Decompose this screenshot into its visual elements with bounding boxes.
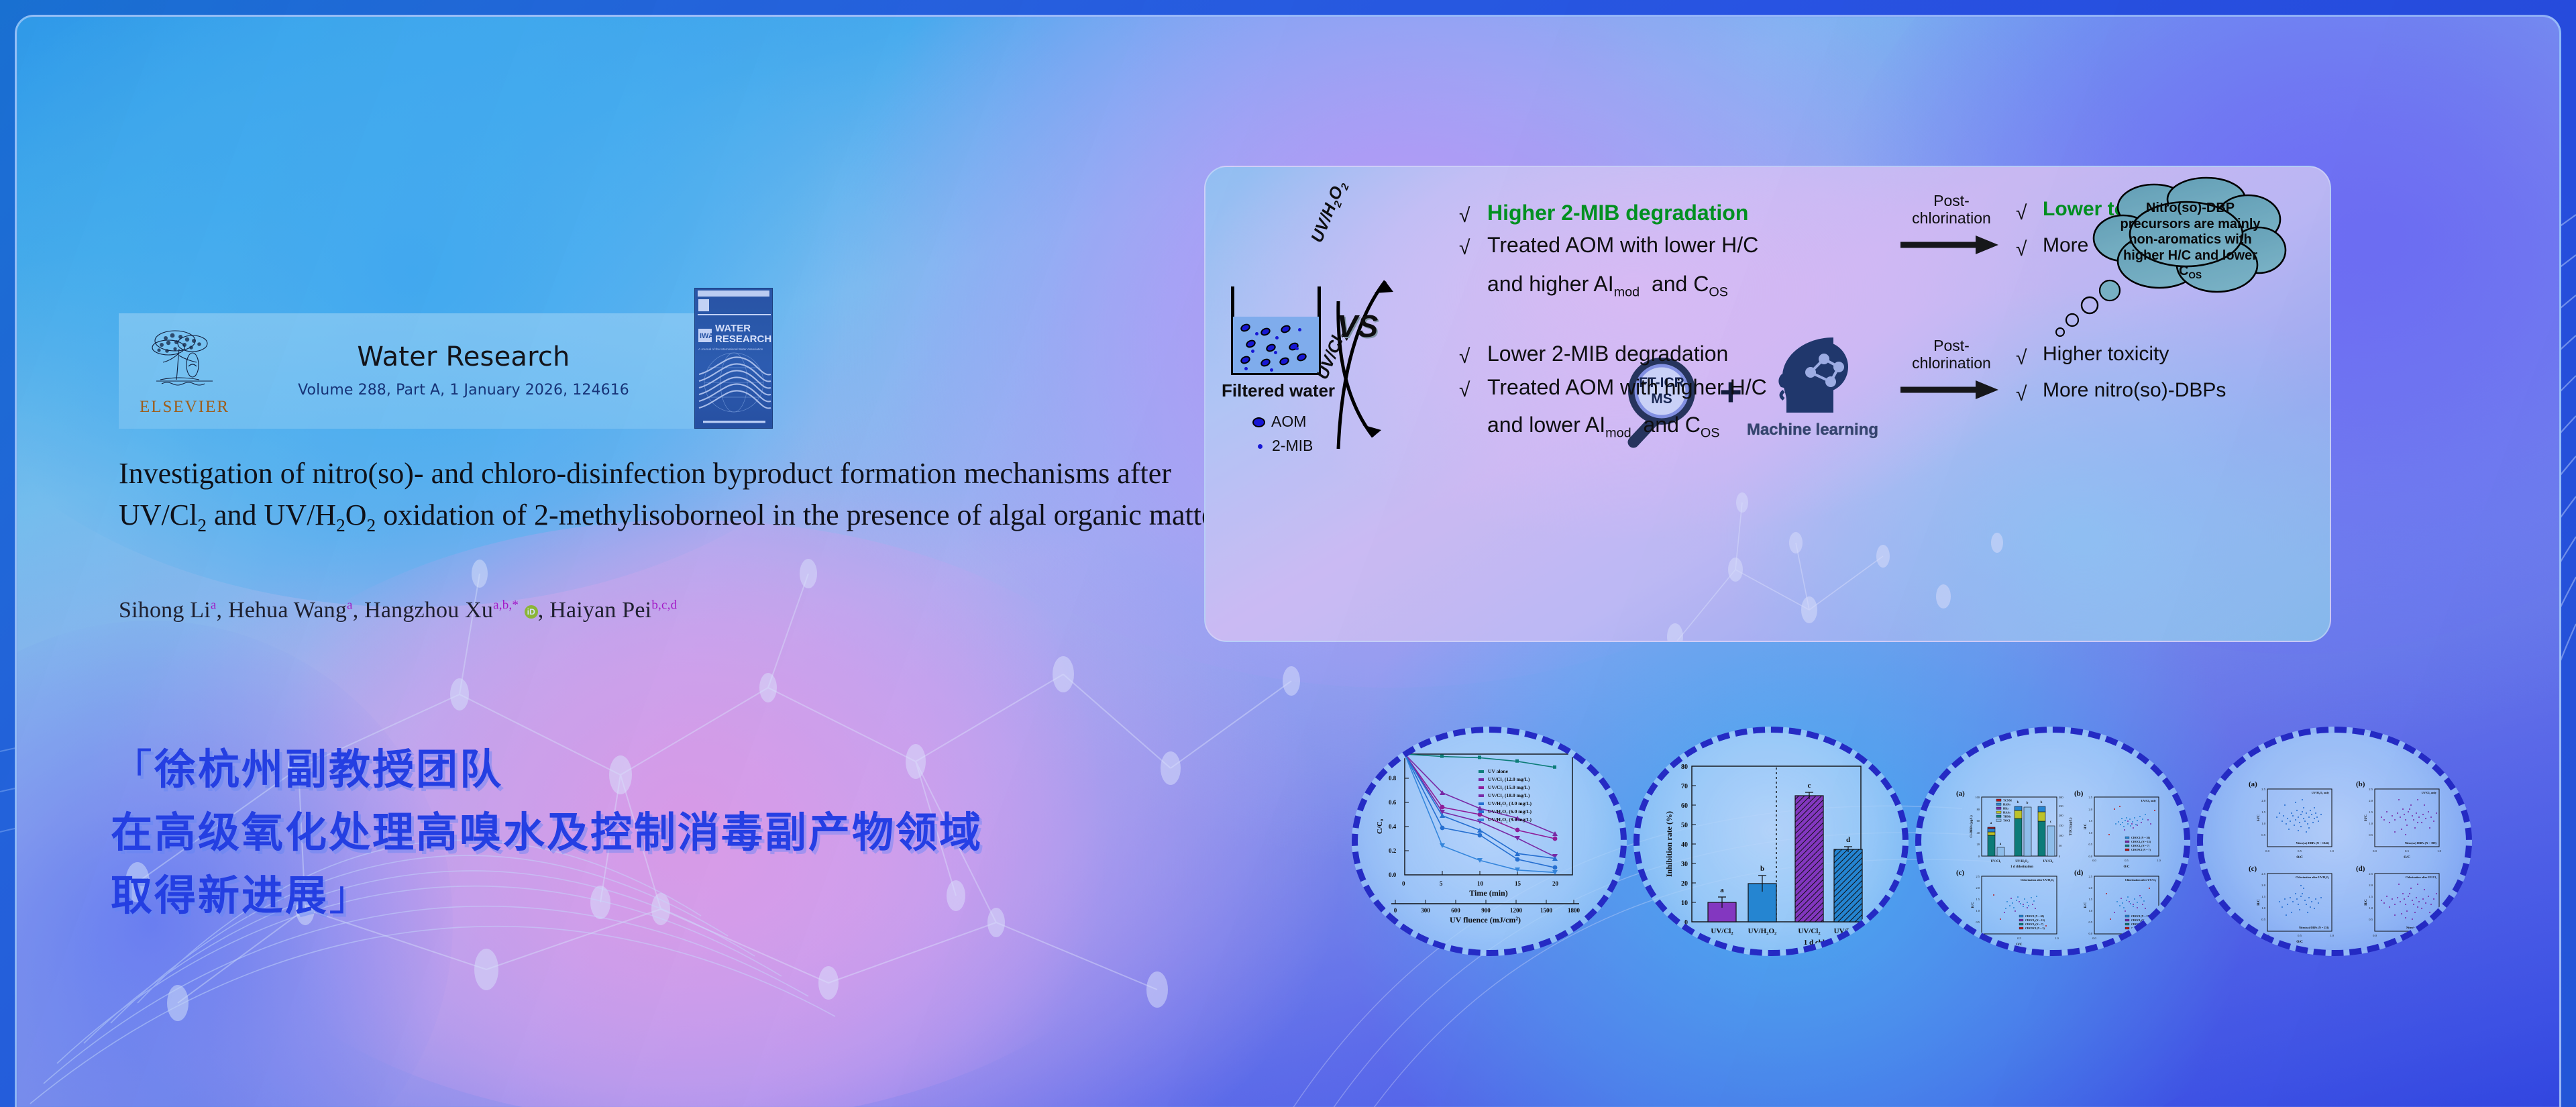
check-top-2: √ <box>1459 237 1470 260</box>
graphical-abstract-panel: Filtered water AOM 2-MIB UV/H2O2 UV/Cl2 … <box>1204 166 2331 642</box>
svg-text:UV alone: UV alone <box>1488 768 1509 774</box>
chinese-headline: 「徐杭州副教授团队 在高级氧化处理高嗅水及控制消毒副产物领域 取得新进展」 <box>111 738 1251 928</box>
svg-text:a: a <box>2000 843 2002 846</box>
bloom-cyan-topleft <box>15 15 916 607</box>
beaker-label: Filtered water <box>1222 380 1335 401</box>
branch-bottom-arrow-label: UV/Cl2 <box>1313 328 1352 383</box>
svg-text:Nitro(so)-DBPs (N = 231): Nitro(so)-DBPs (N = 231) <box>2299 926 2330 929</box>
svg-text:0.2: 0.2 <box>1389 847 1397 854</box>
svg-text:2.5: 2.5 <box>2261 788 2265 791</box>
branch-bottom-outcome-2: More nitro(so)-DBPs <box>2043 379 2226 402</box>
author-3: Hangzhou Xua,b,* iD <box>364 598 538 623</box>
check-top-1: √ <box>1459 205 1470 227</box>
svg-text:1.0: 1.0 <box>2369 822 2373 825</box>
magnifier-icon: FT-ICR MS <box>1613 356 1699 450</box>
svg-text:30: 30 <box>1681 861 1688 868</box>
svg-text:O/C: O/C <box>2296 940 2303 944</box>
svg-text:UV/Cl₂ only: UV/Cl₂ only <box>2422 791 2437 794</box>
svg-text:Cl-DBPs (μg/L): Cl-DBPs (μg/L) <box>1970 815 1974 838</box>
svg-text:0.8: 0.8 <box>1389 775 1397 782</box>
post-chlorination-arrow-top <box>1899 234 2000 257</box>
svg-text:600: 600 <box>1451 907 1460 914</box>
svg-text:0.5: 0.5 <box>2369 918 2373 921</box>
cloud-line-3: non-aromatics with <box>2129 232 2251 247</box>
svg-text:2.5: 2.5 <box>2369 872 2373 876</box>
branch-bottom-bullet-2-cont: and lower AImod and COS <box>1487 413 1720 441</box>
svg-text:40: 40 <box>1681 841 1688 849</box>
svg-text:UV/Cl₂ (12.0 mg/L): UV/Cl₂ (12.0 mg/L) <box>1488 776 1530 782</box>
abstract-panel-mesh <box>1205 167 2331 642</box>
svg-text:2.0: 2.0 <box>2261 884 2265 887</box>
svg-text:b: b <box>2017 801 2019 804</box>
svg-text:1.0: 1.0 <box>2437 849 2441 853</box>
svg-text:1.5: 1.5 <box>2369 895 2373 898</box>
svg-text:0.0: 0.0 <box>2373 934 2377 937</box>
svg-text:UV/Cl₂ (15.0 mg/L): UV/Cl₂ (15.0 mg/L) <box>1488 784 1530 790</box>
svg-text:A Journal of the International: A Journal of the International Water Ass… <box>698 348 763 351</box>
svg-text:a: a <box>1720 886 1724 894</box>
svg-text:250: 250 <box>2059 804 2063 808</box>
svg-text:2.0: 2.0 <box>2261 799 2265 802</box>
bloom-violet-top <box>822 15 1962 688</box>
svg-text:Nitro(so)-DBPs (N = 399): Nitro(so)-DBPs (N = 399) <box>2405 841 2437 845</box>
svg-text:UV/Cl₂: UV/Cl₂ <box>1711 927 1733 935</box>
legend-mib: 2-MIB <box>1258 437 1313 455</box>
magnifier-label: FT-ICR MS <box>1628 375 1695 407</box>
svg-text:UV/Cl₂: UV/Cl₂ <box>2043 860 2053 863</box>
svg-text:900: 900 <box>1481 907 1491 914</box>
svg-text:WATER: WATER <box>715 323 751 334</box>
svg-text:TOCl: TOCl <box>2003 819 2010 823</box>
svg-text:O/C: O/C <box>2404 855 2410 859</box>
check-top-out-2: √ <box>2016 238 2027 261</box>
figure2-chart: 807060 504030 20100 Inhibition rate (%) <box>1640 733 1909 956</box>
bloom-indigo-topright <box>1828 15 2561 654</box>
author-2: Hehua Wanga <box>228 598 353 623</box>
brain-ml-icon <box>1769 335 1852 415</box>
svg-text:1500: 1500 <box>1540 907 1553 914</box>
svg-text:b: b <box>2027 802 2029 805</box>
svg-text:Inhibition rate (%): Inhibition rate (%) <box>1664 811 1674 877</box>
svg-text:200: 200 <box>2059 814 2063 817</box>
svg-text:H/C: H/C <box>2084 823 2088 829</box>
journal-cover-image: IWA WATER RESEARCH A Journal of the Inte… <box>694 288 773 429</box>
legend-aom-label: AOM <box>1271 413 1306 430</box>
svg-text:20: 20 <box>1681 880 1688 888</box>
branch-top-arrow-label: UV/H2O2 <box>1307 178 1352 247</box>
svg-text:1800: 1800 <box>1568 907 1580 914</box>
cloud-line-1: Nitro(so)-DBP <box>2146 201 2235 215</box>
svg-text:2.5: 2.5 <box>2089 875 2093 878</box>
legend-mib-label: 2-MIB <box>1272 437 1313 454</box>
branch-top-outcome-1: Lower toxicity <box>2043 198 2178 221</box>
journal-header-bar: ELSEVIER Water Research Volume 288, Part… <box>119 313 696 429</box>
headline-line-2: 在高级氧化处理高嗅水及控制消毒副产物领域 <box>111 808 983 857</box>
svg-text:1.0: 1.0 <box>2089 909 2093 912</box>
svg-text:UV/H₂O₂ (6.0 mg/L): UV/H₂O₂ (6.0 mg/L) <box>1488 808 1532 814</box>
svg-text:CHOCl (N = 36): CHOCl (N = 36) <box>2131 836 2151 839</box>
plus-icon: + <box>1719 370 1742 415</box>
svg-text:1.0: 1.0 <box>2330 934 2334 937</box>
svg-text:2.5: 2.5 <box>1976 875 1980 878</box>
post-label-bot-1: Post- <box>1933 337 1970 354</box>
svg-text:100: 100 <box>2059 834 2063 837</box>
svg-text:300: 300 <box>2059 796 2063 799</box>
headline-close-bracket: 」 <box>329 871 372 920</box>
poster-background: ELSEVIER Water Research Volume 288, Part… <box>0 0 2576 1107</box>
svg-text:2.0: 2.0 <box>2369 884 2373 887</box>
svg-text:0: 0 <box>1402 880 1405 887</box>
branch-bottom-bullet-2: Treated AOM with higher H/C <box>1487 375 1767 400</box>
svg-text:60: 60 <box>1681 802 1688 810</box>
svg-text:CHOCl (N = 69): CHOCl (N = 69) <box>2025 914 2045 918</box>
svg-text:0.0: 0.0 <box>1976 932 1980 935</box>
svg-text:c: c <box>1808 782 1811 790</box>
svg-text:CHOCl (N = 55): CHOCl (N = 55) <box>2131 914 2151 918</box>
svg-text:0: 0 <box>2059 855 2061 858</box>
svg-text:0.5: 0.5 <box>2089 920 2093 924</box>
svg-text:UV fluence (mJ/cm²): UV fluence (mJ/cm²) <box>1450 915 1521 925</box>
svg-text:CHONCl (N = 3): CHONCl (N = 3) <box>2025 927 2045 930</box>
svg-text:b: b <box>2041 801 2043 804</box>
svg-text:d: d <box>1846 836 1850 844</box>
vs-label: VS <box>1337 308 1378 344</box>
branch-top-bullet-2-cont: and higher AImod and COS <box>1487 272 1728 300</box>
svg-text:50: 50 <box>2059 844 2062 847</box>
svg-text:0.5: 0.5 <box>1976 920 1980 924</box>
check-top-out-1: √ <box>2016 202 2027 225</box>
svg-text:HKs: HKs <box>2003 807 2009 810</box>
svg-text:1.0: 1.0 <box>2261 822 2265 825</box>
cloud-line-5: COS <box>2179 264 2202 278</box>
svg-text:150: 150 <box>2059 824 2063 827</box>
svg-text:H/C: H/C <box>2364 814 2368 821</box>
svg-text:Chlorination after UV/Cl₂: Chlorination after UV/Cl₂ <box>2406 876 2437 879</box>
svg-text:1.0: 1.0 <box>1976 909 1980 912</box>
author-4: Haiyan Peib,c,d <box>549 598 677 623</box>
svg-text:1.5: 1.5 <box>2261 895 2265 898</box>
elsevier-logo: ELSEVIER <box>131 321 238 421</box>
aom-marker-icon <box>1252 417 1265 427</box>
svg-text:1.5: 1.5 <box>2089 898 2093 901</box>
svg-text:(d): (d) <box>2356 865 2365 873</box>
svg-text:1.0: 1.0 <box>1389 751 1397 757</box>
author-list: Sihong Lia, Hehua Wanga, Hangzhou Xua,b,… <box>119 598 1232 623</box>
svg-text:0.5: 0.5 <box>2089 843 2093 846</box>
svg-text:5: 5 <box>1440 880 1443 887</box>
orcid-icon[interactable]: iD <box>525 605 538 619</box>
figure-circle-inhibition[interactable]: 807060 504030 20100 Inhibition rate (%) <box>1633 727 1909 956</box>
svg-text:100: 100 <box>1975 796 1980 799</box>
svg-text:O/C: O/C <box>2296 855 2303 859</box>
cloud-line-2: precursors are mainly <box>2121 217 2261 231</box>
svg-text:O/C: O/C <box>2124 865 2130 869</box>
branch-top-bullet-1: Higher 2-MIB degradation <box>1487 201 1748 225</box>
svg-text:2.5: 2.5 <box>2261 872 2265 876</box>
svg-text:80: 80 <box>1977 808 1980 811</box>
svg-text:10: 10 <box>1681 900 1688 907</box>
svg-text:50: 50 <box>1681 822 1688 829</box>
svg-text:Chlorination after UV/H₂O₂: Chlorination after UV/H₂O₂ <box>2021 878 2055 882</box>
elsevier-tree-icon <box>148 326 221 396</box>
svg-text:1.5: 1.5 <box>2369 810 2373 814</box>
svg-text:TCNM: TCNM <box>2003 799 2012 802</box>
mib-marker-icon <box>1258 444 1263 449</box>
svg-text:0.5: 0.5 <box>2369 833 2373 837</box>
svg-text:CHOCl₂ (N = 15): CHOCl₂ (N = 15) <box>2131 840 2151 843</box>
post-chlorination-label-top: Post- chlorination <box>1909 193 1994 227</box>
headline-open-bracket: 「 <box>111 745 154 794</box>
svg-text:0.0: 0.0 <box>2089 855 2093 858</box>
svg-text:0: 0 <box>1978 855 1980 858</box>
post-chlorination-label-bottom: Post- chlorination <box>1909 337 1994 372</box>
svg-text:2.5: 2.5 <box>2369 788 2373 791</box>
svg-text:0.6: 0.6 <box>1389 799 1397 806</box>
svg-text:c: c <box>2050 821 2052 824</box>
machine-learning-label: Machine learning <box>1735 421 1890 439</box>
svg-text:1.0: 1.0 <box>2261 906 2265 910</box>
legend-aom: AOM <box>1252 413 1306 431</box>
thought-bubbles-icon <box>2052 295 2106 341</box>
molecule-network-decoration <box>17 17 2561 1107</box>
svg-text:2.0: 2.0 <box>1976 886 1980 890</box>
svg-text:CHONCl (N = 7): CHONCl (N = 7) <box>2131 848 2151 851</box>
svg-text:40: 40 <box>1977 831 1980 835</box>
svg-text:0.0: 0.0 <box>2373 849 2377 853</box>
journal-name: Water Research <box>238 344 689 370</box>
svg-text:0.5: 0.5 <box>2298 934 2302 937</box>
svg-text:CHONCl (N = 8): CHONCl (N = 8) <box>2131 927 2151 930</box>
post-label-top-2: chlorination <box>1912 209 1991 227</box>
svg-text:UV/H₂O₂: UV/H₂O₂ <box>1748 927 1777 935</box>
svg-text:(c): (c) <box>2249 865 2257 873</box>
branch-top-bullet-2: Treated AOM with lower H/C <box>1487 233 1758 258</box>
post-label-bot-2: chlorination <box>1912 354 1991 372</box>
svg-text:1.0: 1.0 <box>2369 906 2373 910</box>
svg-text:0.5: 0.5 <box>2405 849 2409 853</box>
svg-text:HANs: HANs <box>2003 803 2010 806</box>
svg-text:UV/H₂O₂ only: UV/H₂O₂ only <box>2312 791 2330 794</box>
figure3-chart: (a) 1008060 40200 300250200 150100500 Cl… <box>1921 733 2190 956</box>
svg-text:UV/Cl₂: UV/Cl₂ <box>1798 927 1821 935</box>
svg-text:1200: 1200 <box>1510 907 1523 914</box>
svg-text:UV/Cl₂ only: UV/Cl₂ only <box>2141 799 2157 802</box>
beaker-icon <box>1231 286 1321 375</box>
svg-text:Chlorination after UV/H₂O₂: Chlorination after UV/H₂O₂ <box>2296 876 2330 879</box>
svg-text:1.0: 1.0 <box>2089 831 2093 835</box>
figure1-chart: 1.00.80.6 0.40.20.0 0510 1520 C/C₀ Time … <box>1358 733 1627 956</box>
svg-text:CHOCl₃ (N = 10): CHOCl₃ (N = 10) <box>2131 922 2151 926</box>
figure-circle-degradation[interactable]: 1.00.80.6 0.40.20.0 0510 1520 C/C₀ Time … <box>1352 727 1627 956</box>
svg-text:H/C: H/C <box>2257 899 2261 906</box>
svg-text:UV/Cl₂: UV/Cl₂ <box>1990 860 2001 863</box>
cloud-shape-icon <box>2092 175 2287 309</box>
cloud-text: Nitro(so)-DBP precursors are mainly non-… <box>2108 201 2272 281</box>
svg-text:0.5: 0.5 <box>2017 937 2021 940</box>
svg-text:0.5: 0.5 <box>2261 833 2265 837</box>
svg-text:60: 60 <box>1977 819 1980 823</box>
svg-text:0: 0 <box>1394 907 1397 914</box>
bloom-indigo-bottomleft <box>15 621 453 1107</box>
svg-text:IWA: IWA <box>700 332 714 340</box>
svg-text:O/C: O/C <box>2404 940 2410 944</box>
poster-card: ELSEVIER Water Research Volume 288, Part… <box>15 15 2561 1107</box>
svg-text:20: 20 <box>1552 880 1559 887</box>
check-bot-out-2: √ <box>2016 383 2027 406</box>
magnifier-line-1: FT-ICR <box>1639 375 1684 390</box>
svg-text:H/C: H/C <box>2084 902 2088 908</box>
svg-text:H/C: H/C <box>2257 814 2261 821</box>
svg-text:(d): (d) <box>2074 869 2084 877</box>
svg-text:300: 300 <box>1421 907 1430 914</box>
branch-top-outcome-2: More Cl-DBPs <box>2043 234 2171 257</box>
magnifier-line-2: MS <box>1651 391 1672 407</box>
svg-text:0.0: 0.0 <box>2265 849 2269 853</box>
svg-text:2.0: 2.0 <box>2089 808 2093 811</box>
svg-text:UV/H₂O₂ (9.0 mg/L): UV/H₂O₂ (9.0 mg/L) <box>1488 816 1532 823</box>
svg-text:80: 80 <box>1681 763 1688 771</box>
svg-text:1.0: 1.0 <box>2330 849 2334 853</box>
svg-text:0.5: 0.5 <box>2125 859 2129 862</box>
svg-text:20: 20 <box>1977 843 1980 846</box>
check-bot-out-1: √ <box>2016 347 2027 370</box>
svg-text:2.5: 2.5 <box>2089 796 2093 799</box>
svg-text:10: 10 <box>1477 880 1484 887</box>
svg-text:H/C: H/C <box>1972 902 1975 908</box>
svg-text:70: 70 <box>1681 783 1688 790</box>
elsevier-wordmark: ELSEVIER <box>140 398 229 417</box>
svg-text:15: 15 <box>1515 880 1521 887</box>
svg-text:(b): (b) <box>2074 790 2084 798</box>
svg-text:1.5: 1.5 <box>1976 898 1980 901</box>
thought-cloud: Nitro(so)-DBP precursors are mainly non-… <box>2092 175 2287 309</box>
svg-text:UV/H₂O₂: UV/H₂O₂ <box>2015 860 2029 863</box>
svg-text:(c): (c) <box>1956 869 1965 877</box>
svg-text:1.0: 1.0 <box>2157 937 2161 940</box>
svg-text:1.0: 1.0 <box>2157 859 2161 862</box>
check-bot-2: √ <box>1459 379 1470 402</box>
figure-circle-van-krevelen[interactable]: (a) 2.52.01.5 1.00.5 0.00.51.0 O/C H/C U… <box>2197 727 2472 956</box>
svg-text:UV/H₂O₂ (3.0 mg/L): UV/H₂O₂ (3.0 mg/L) <box>1488 800 1532 806</box>
svg-text:0.0: 0.0 <box>1389 872 1397 878</box>
article-title: Investigation of nitro(so)- and chloro-d… <box>119 453 1232 539</box>
svg-text:HAAs: HAAs <box>2003 811 2010 814</box>
svg-text:0.0: 0.0 <box>1980 937 1984 940</box>
figure4-chart: (a) 2.52.01.5 1.00.5 0.00.51.0 O/C H/C U… <box>2203 733 2472 956</box>
post-chlorination-arrow-bottom <box>1899 379 2000 402</box>
svg-text:0.0: 0.0 <box>2265 934 2269 937</box>
bloom-pink-center <box>184 520 1191 1107</box>
svg-text:0.0: 0.0 <box>2089 932 2093 935</box>
figure-circle-cl-dbps[interactable]: (a) 1008060 40200 300250200 150100500 Cl… <box>1915 727 2190 956</box>
svg-text:Nitro(so)-DBPs (N = 1042): Nitro(so)-DBPs (N = 1042) <box>2296 841 2330 845</box>
post-label-top-1: Post- <box>1933 192 1970 209</box>
svg-text:(b): (b) <box>2356 780 2365 788</box>
svg-text:0.4: 0.4 <box>1389 823 1397 830</box>
radiating-lines-decoration <box>0 0 2576 1107</box>
svg-text:0.5: 0.5 <box>2405 934 2409 937</box>
svg-text:UV/H₂O₂: UV/H₂O₂ <box>1834 927 1863 935</box>
headline-line-1: 徐杭州副教授团队 <box>154 745 503 794</box>
check-bot-1: √ <box>1459 346 1470 368</box>
svg-text:CHOCl₃ (N = 7): CHOCl₃ (N = 7) <box>2131 844 2150 847</box>
svg-text:O/C: O/C <box>2124 943 2130 947</box>
svg-text:RESEARCH: RESEARCH <box>715 333 771 345</box>
cloud-line-4: higher H/C and lower <box>2123 248 2257 263</box>
svg-text:Time (min): Time (min) <box>1469 888 1507 898</box>
headline-line-3: 取得新进展 <box>111 871 329 920</box>
journal-volume-line: Volume 288, Part A, 1 January 2026, 1246… <box>238 382 689 399</box>
svg-text:CHOCl₂ (N = 15): CHOCl₂ (N = 15) <box>2025 918 2045 922</box>
journal-title-block: Water Research Volume 288, Part A, 1 Jan… <box>238 344 696 399</box>
author-1: Sihong Lia <box>119 598 217 623</box>
svg-text:0.0: 0.0 <box>2092 859 2096 862</box>
svg-text:1 d chlorination: 1 d chlorination <box>1804 939 1854 947</box>
svg-text:a: a <box>1990 822 1992 825</box>
svg-text:Nitro(so)-DBPs (N = 844): Nitro(so)-DBPs (N = 844) <box>2406 926 2437 929</box>
svg-text:TOCl (μg/L): TOCl (μg/L) <box>2070 817 2073 835</box>
bloom-cyan-bottomright <box>1258 527 2331 1107</box>
branch-bottom-outcome-1: Higher toxicity <box>2043 343 2169 366</box>
svg-text:0.5: 0.5 <box>2125 937 2129 940</box>
svg-text:Chlorination after UV/Cl₂: Chlorination after UV/Cl₂ <box>2125 878 2157 882</box>
svg-text:0.5: 0.5 <box>2261 918 2265 921</box>
svg-text:CHOCl₂ (N = 70): CHOCl₂ (N = 70) <box>2131 918 2151 922</box>
svg-text:1.5: 1.5 <box>2261 810 2265 814</box>
svg-text:CHOCl₃ (N = 7): CHOCl₃ (N = 7) <box>2025 922 2044 926</box>
svg-text:C/C₀: C/C₀ <box>1376 819 1384 834</box>
svg-text:1.5: 1.5 <box>2089 819 2093 823</box>
svg-text:THMs: THMs <box>2003 815 2011 819</box>
svg-text:UV/Cl₂ (18.0 mg/L): UV/Cl₂ (18.0 mg/L) <box>1488 792 1530 798</box>
svg-text:1.0: 1.0 <box>2055 937 2059 940</box>
branch-bottom-bullet-1: Lower 2-MIB degradation <box>1487 341 1728 366</box>
svg-text:0.5: 0.5 <box>2298 849 2302 853</box>
svg-text:2.0: 2.0 <box>2369 799 2373 802</box>
svg-text:0: 0 <box>1684 919 1688 927</box>
svg-text:2.0: 2.0 <box>2089 886 2093 890</box>
svg-text:b: b <box>1760 865 1764 873</box>
svg-text:O/C: O/C <box>2017 943 2023 947</box>
svg-text:1.0: 1.0 <box>2437 934 2441 937</box>
branch-arrows <box>1306 180 1481 476</box>
svg-text:1 d chlorination: 1 d chlorination <box>2010 865 2033 869</box>
svg-text:(a): (a) <box>1956 790 1965 798</box>
svg-text:0.0: 0.0 <box>2092 937 2096 940</box>
svg-text:(a): (a) <box>2249 780 2257 788</box>
svg-text:H/C: H/C <box>2364 899 2368 906</box>
